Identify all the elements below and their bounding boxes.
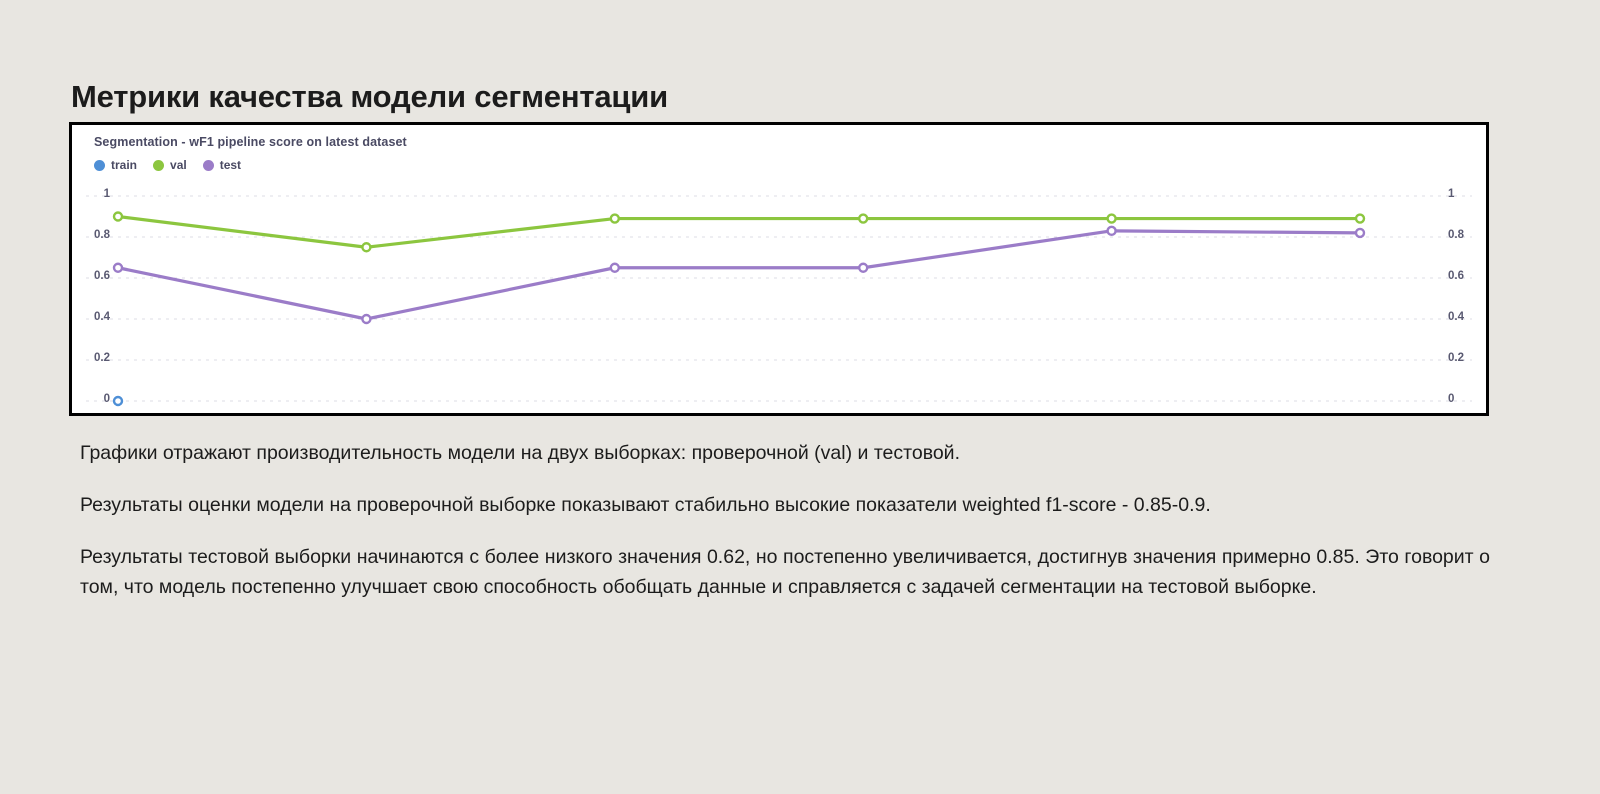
y-tick-right-1: 0.8	[1448, 229, 1486, 241]
y-tick-left-4: 0.2	[72, 352, 110, 364]
y-tick-right-2: 0.6	[1448, 270, 1486, 282]
y-tick-right-3: 0.4	[1448, 311, 1486, 323]
data-point-train-0[interactable]	[114, 397, 122, 405]
y-tick-left-3: 0.4	[72, 311, 110, 323]
data-point-test-0[interactable]	[114, 264, 122, 272]
data-point-test-5[interactable]	[1356, 229, 1364, 237]
y-tick-left-1: 0.8	[72, 229, 110, 241]
series-line-test	[118, 231, 1360, 319]
body-text: Графики отражают производительность моде…	[80, 438, 1490, 602]
data-point-test-3[interactable]	[859, 264, 867, 272]
data-point-test-2[interactable]	[611, 264, 619, 272]
y-tick-left-0: 1	[72, 188, 110, 200]
data-point-val-1[interactable]	[362, 243, 370, 251]
y-tick-right-5: 0	[1448, 393, 1486, 405]
y-tick-left-2: 0.6	[72, 270, 110, 282]
y-tick-right-4: 0.2	[1448, 352, 1486, 364]
data-point-val-0[interactable]	[114, 213, 122, 221]
data-point-val-2[interactable]	[611, 215, 619, 223]
data-point-val-4[interactable]	[1108, 215, 1116, 223]
data-point-val-3[interactable]	[859, 215, 867, 223]
chart-plot-area	[72, 125, 1486, 413]
paragraph-2: Результаты оценки модели на проверочной …	[80, 490, 1490, 520]
chart-svg	[72, 125, 1486, 413]
y-tick-right-0: 1	[1448, 188, 1486, 200]
data-point-val-5[interactable]	[1356, 215, 1364, 223]
paragraph-1: Графики отражают производительность моде…	[80, 438, 1490, 468]
chart-panel: Segmentation - wF1 pipeline score on lat…	[69, 122, 1489, 416]
y-tick-left-5: 0	[72, 393, 110, 405]
page-title: Метрики качества модели сегментации	[71, 79, 668, 115]
paragraph-3: Результаты тестовой выборки начинаются с…	[80, 542, 1490, 602]
data-point-test-4[interactable]	[1108, 227, 1116, 235]
data-point-test-1[interactable]	[362, 315, 370, 323]
page-root: Метрики качества модели сегментации Segm…	[0, 0, 1600, 794]
